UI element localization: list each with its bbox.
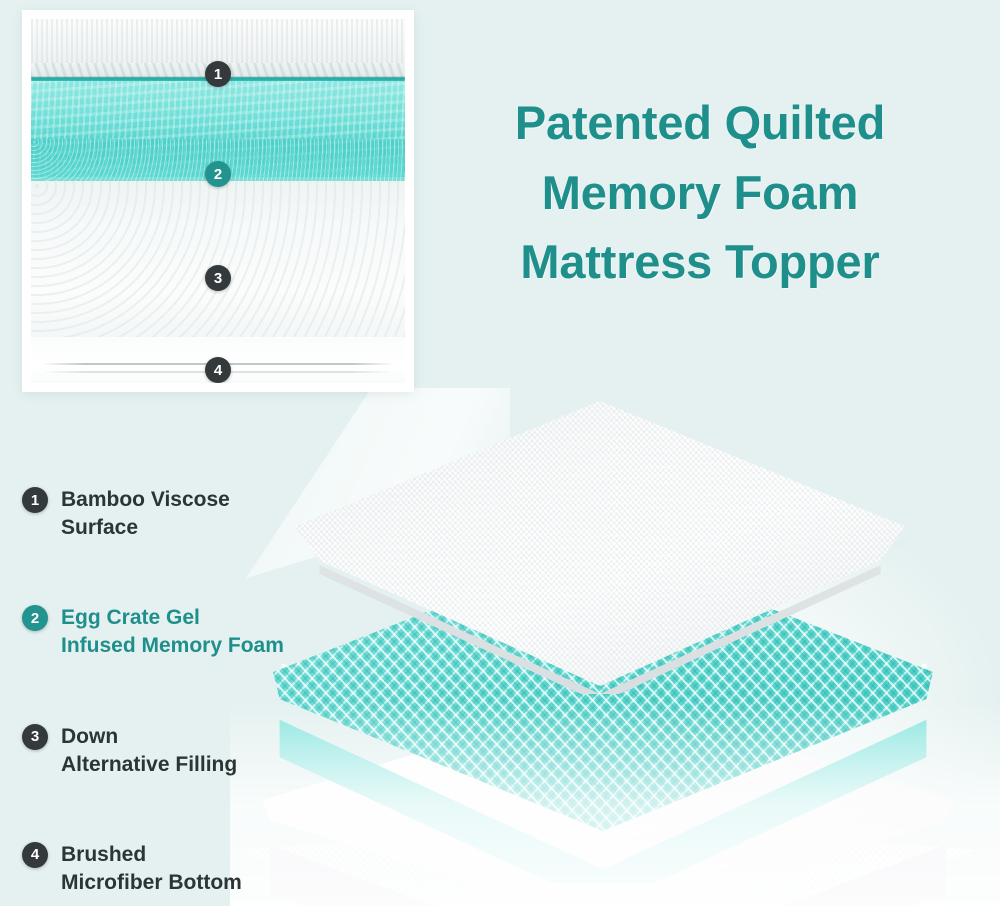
legend-badge-3: 3 (22, 724, 48, 750)
legend-label-3-line-1: Down (61, 723, 237, 751)
legend-item-4: 4 Brushed Microfiber Bottom (22, 841, 342, 897)
page-title-line-2: Memory Foam (420, 158, 980, 228)
legend-item-1: 1 Bamboo Viscose Surface (22, 486, 342, 542)
page-title-line-1: Patented Quilted (420, 88, 980, 158)
product-infographic: 1 2 3 4 Patented Quilted Memory Foam Mat… (0, 0, 1000, 906)
legend-label-2-line-2: Infused Memory Foam (61, 632, 284, 660)
exploded-layer-stack (255, 395, 995, 905)
page-title-line-3: Mattress Topper (420, 227, 980, 297)
legend-label-2-line-1: Egg Crate Gel (61, 604, 284, 632)
legend-label-4-line-1: Brushed (61, 841, 242, 869)
legend-label-1-line-1: Bamboo Viscose (61, 486, 230, 514)
legend-badge-1-wrap: 1 (22, 486, 48, 513)
legend-item-2: 2 Egg Crate Gel Infused Memory Foam (22, 604, 342, 660)
inset-badge-4: 4 (205, 357, 231, 383)
legend-label-4-line-2: Microfiber Bottom (61, 869, 242, 897)
legend-badge-4: 4 (22, 842, 48, 868)
legend-badge-4-wrap: 4 (22, 841, 48, 868)
legend-badge-3-wrap: 3 (22, 723, 48, 750)
cross-section-inset-frame: 1 2 3 4 (22, 10, 414, 392)
cross-section-photo: 1 2 3 4 (31, 19, 405, 383)
inset-badge-1: 1 (205, 61, 231, 87)
legend-badge-2-wrap: 2 (22, 604, 48, 631)
inset-badge-3: 3 (205, 265, 231, 291)
legend-badge-2: 2 (22, 605, 48, 631)
page-title: Patented Quilted Memory Foam Mattress To… (420, 88, 980, 297)
legend-label-1: Bamboo Viscose Surface (61, 486, 230, 542)
legend-label-3-line-2: Alternative Filling (61, 751, 237, 779)
legend-badge-1: 1 (22, 487, 48, 513)
legend-label-4: Brushed Microfiber Bottom (61, 841, 242, 897)
legend-label-1-line-2: Surface (61, 514, 230, 542)
legend-item-3: 3 Down Alternative Filling (22, 723, 342, 779)
inset-badge-2: 2 (205, 161, 231, 187)
legend-label-3: Down Alternative Filling (61, 723, 237, 779)
legend-label-2: Egg Crate Gel Infused Memory Foam (61, 604, 284, 660)
layer-legend: 1 Bamboo Viscose Surface 2 Egg Crate Gel… (22, 486, 342, 897)
cross-section-layer-down-filling (31, 181, 405, 339)
